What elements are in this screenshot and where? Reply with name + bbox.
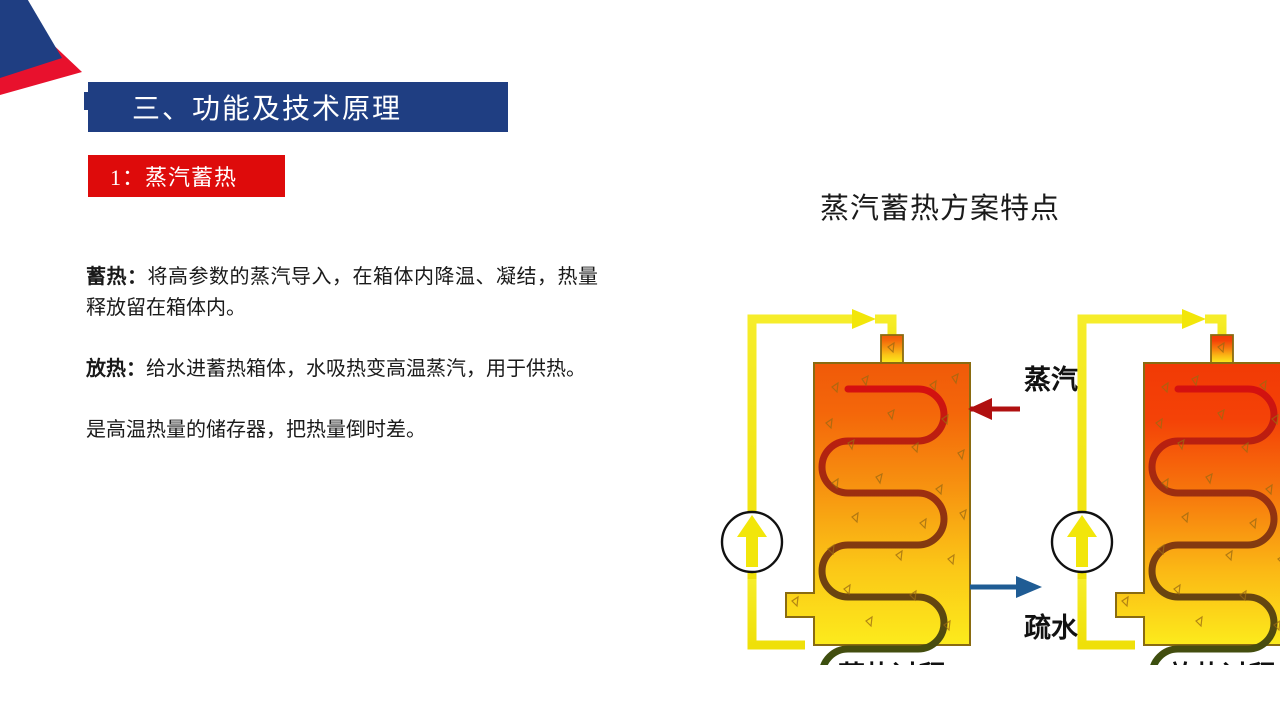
charging-water-arrow <box>970 576 1042 598</box>
charging-tank-neck <box>881 335 903 363</box>
discharging-pump <box>1052 512 1112 572</box>
paragraph-discharging-lead: 放热： <box>86 358 146 380</box>
paragraph-summary: 是高温热量的储存器，把热量倒时差。 <box>86 415 598 446</box>
section-title-text: 三、功能及技术原理 <box>88 87 402 127</box>
subsection-badge-text: 1：蒸汽蓄热 <box>88 160 237 192</box>
paragraph-charging-lead: 蓄热： <box>86 266 148 288</box>
diagram-title: 蒸汽蓄热方案特点 <box>600 185 1280 227</box>
paragraph-gap-2 <box>86 385 598 415</box>
charging-water-label: 疏水 <box>1024 612 1079 643</box>
charging-pump <box>722 512 782 572</box>
paragraph-charging: 蓄热：将高参数的蒸汽导入，在箱体内降温、凝结，热量释放留在箱体内。 <box>86 262 598 324</box>
paragraph-discharging-text: 给水进蓄热箱体，水吸热变高温蒸汽，用于供热。 <box>146 358 586 380</box>
paragraph-charging-text: 将高参数的蒸汽导入，在箱体内降温、凝结，热量释放留在箱体内。 <box>86 266 598 319</box>
discharging-caption: 放热过程 <box>1167 660 1276 665</box>
subsection-badge: 1：蒸汽蓄热 <box>88 155 285 197</box>
discharging-tank-neck <box>1211 335 1233 363</box>
body-copy: 蓄热：将高参数的蒸汽导入，在箱体内降温、凝结，热量释放留在箱体内。 放热：给水进… <box>86 262 598 446</box>
steam-storage-diagram: 蒸汽蓄热方案特点 <box>600 185 1280 665</box>
corner-decoration <box>0 0 90 110</box>
discharging-tank-body <box>1116 363 1280 645</box>
unit-discharging: 蒸汽 给水 放热过程 <box>1052 309 1280 665</box>
charging-steam-arrow <box>968 398 1020 420</box>
charging-caption: 蓄热过程 <box>838 661 946 665</box>
charging-steam-label: 蒸汽 <box>1024 365 1078 395</box>
paragraph-discharging: 放热：给水进蓄热箱体，水吸热变高温蒸汽，用于供热。 <box>86 354 598 385</box>
section-title-banner: 三、功能及技术原理 <box>88 82 508 132</box>
diagram-canvas: 蒸汽 疏水 蓄热过程 <box>600 237 1280 665</box>
unit-charging: 蒸汽 疏水 蓄热过程 <box>722 309 1079 665</box>
paragraph-gap-1 <box>86 324 598 354</box>
